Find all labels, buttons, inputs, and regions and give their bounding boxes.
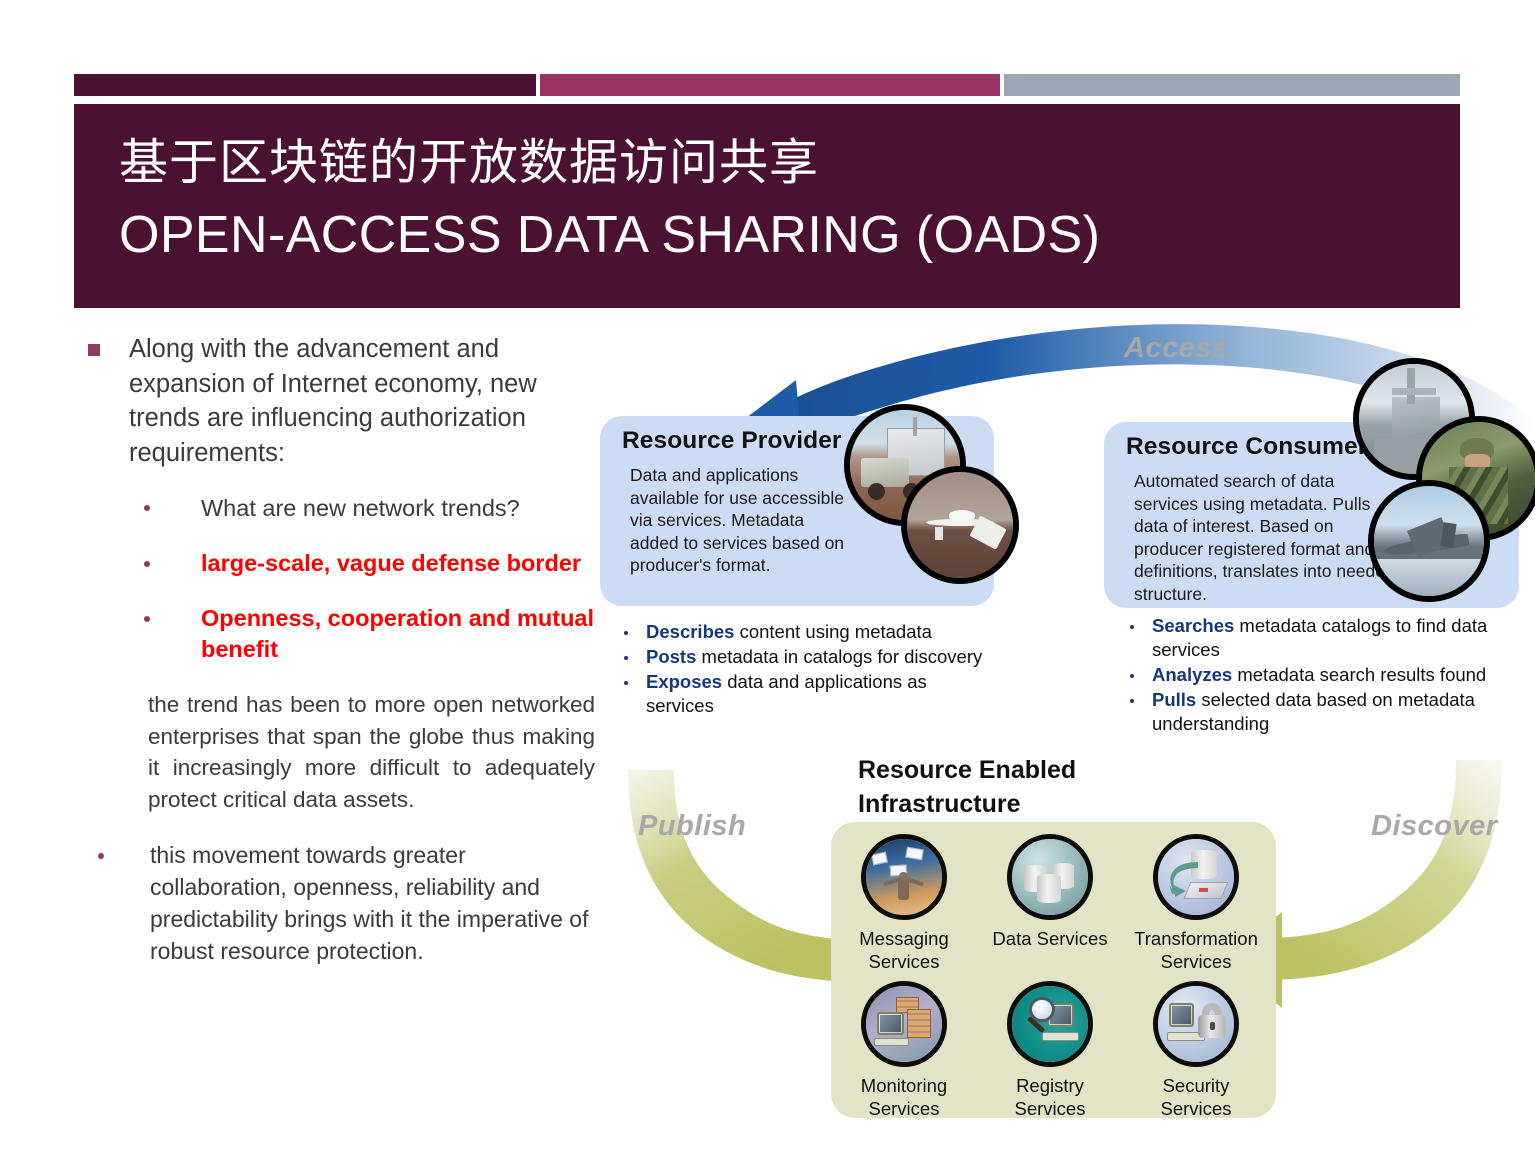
service-messaging[interactable]: Messaging Services <box>834 834 974 973</box>
action-rest: content using metadata <box>734 621 931 642</box>
data-services-icon <box>1007 834 1093 920</box>
discover-arrow-label: Discover <box>1371 810 1498 843</box>
monitoring-services-icon <box>861 981 947 1067</box>
round-bullet-icon <box>1130 674 1134 678</box>
action-verb: Pulls <box>1152 689 1196 710</box>
action-verb: Describes <box>646 621 734 642</box>
fighter-jet-photo <box>1368 480 1490 602</box>
round-bullet-icon <box>624 656 628 660</box>
service-label: Security Services <box>1126 1074 1266 1120</box>
service-label: Messaging Services <box>834 927 974 973</box>
consumer-actions-list: Searches metadata catalogs to find data … <box>1130 614 1500 737</box>
list-item: Searches metadata catalogs to find data … <box>1130 614 1500 662</box>
sub-bullet-1: large-scale, vague defense border <box>88 548 608 579</box>
resource-enabled-infrastructure-title: Resource Enabled Infrastructure <box>858 753 1158 821</box>
closing-bullet-text: this movement towards greater collaborat… <box>150 839 596 967</box>
uav-drone-photo <box>901 466 1019 584</box>
security-services-icon <box>1153 981 1239 1067</box>
service-monitoring[interactable]: Monitoring Services <box>834 981 974 1120</box>
service-label: Transformation Services <box>1126 927 1266 973</box>
square-bullet-icon <box>88 344 100 356</box>
page-title-chinese: 基于区块链的开放数据访问共享 <box>119 134 819 191</box>
closing-bullet: this movement towards greater collaborat… <box>88 839 608 967</box>
round-bullet-icon <box>624 631 628 635</box>
action-rest: metadata search results found <box>1232 664 1486 685</box>
bullet-level1: Along with the advancement and expansion… <box>88 332 608 470</box>
list-item: Posts metadata in catalogs for discovery <box>624 645 984 669</box>
bullet-level1-text: Along with the advancement and expansion… <box>129 332 608 470</box>
round-bullet-icon <box>1130 699 1134 703</box>
service-label: Registry Services <box>980 1074 1120 1120</box>
list-item: Analyzes metadata search results found <box>1130 663 1500 687</box>
action-rest: metadata in catalogs for discovery <box>696 646 982 667</box>
slide-canvas: 基于区块链的开放数据访问共享 OPEN-ACCESS DATA SHARING … <box>0 0 1535 1152</box>
sub-bullet-2-text: Openness, cooperation and mutual benefit <box>201 603 608 665</box>
registry-services-icon <box>1007 981 1093 1067</box>
oads-diagram: Access Publish Discover Resource Provide… <box>596 318 1535 1152</box>
header-bar-magenta <box>540 74 1000 96</box>
publish-arrow-label: Publish <box>638 810 746 843</box>
sub-bullet-2: Openness, cooperation and mutual benefit <box>88 603 608 665</box>
messaging-services-icon <box>861 834 947 920</box>
action-verb: Posts <box>646 646 696 667</box>
service-security[interactable]: Security Services <box>1126 981 1266 1120</box>
round-bullet-icon <box>98 853 104 859</box>
list-item: Describes content using metadata <box>624 620 984 644</box>
services-grid: Messaging Services Data Services <box>831 834 1276 1128</box>
service-label: Monitoring Services <box>834 1074 974 1120</box>
sub-bullet-0: What are new network trends? <box>88 492 608 524</box>
access-arrow-label: Access <box>1124 332 1229 365</box>
resource-provider-title: Resource Provider <box>622 427 842 455</box>
service-label: Data Services <box>992 927 1107 950</box>
resource-provider-body: Data and applications available for use … <box>630 464 855 577</box>
resource-consumer-body: Automated search of data services using … <box>1134 470 1396 605</box>
header-bar-gray <box>1004 74 1460 96</box>
action-verb: Analyzes <box>1152 664 1232 685</box>
page-title-english: OPEN-ACCESS DATA SHARING (OADS) <box>119 204 1100 266</box>
action-rest: selected data based on metadata understa… <box>1152 689 1475 734</box>
service-data[interactable]: Data Services <box>980 834 1120 973</box>
trend-paragraph: the trend has been to more open networke… <box>148 689 595 815</box>
provider-actions-list: Describes content using metadata Posts m… <box>624 620 984 719</box>
round-bullet-icon <box>1130 625 1134 629</box>
list-item: Exposes data and applications as service… <box>624 670 984 718</box>
list-item: Pulls selected data based on metadata un… <box>1130 688 1500 736</box>
header-bar-maroon <box>74 74 536 96</box>
resource-enabled-infrastructure-box: Messaging Services Data Services <box>831 822 1276 1118</box>
sub-bullet-1-text: large-scale, vague defense border <box>201 548 608 579</box>
resource-consumer-title: Resource Consumer <box>1126 433 1367 461</box>
service-registry[interactable]: Registry Services <box>980 981 1120 1120</box>
action-verb: Exposes <box>646 671 722 692</box>
round-bullet-icon <box>144 505 150 511</box>
round-bullet-icon <box>624 681 628 685</box>
action-verb: Searches <box>1152 615 1234 636</box>
service-transformation[interactable]: Transformation Services <box>1126 834 1266 973</box>
sub-bullet-0-text: What are new network trends? <box>201 492 608 524</box>
round-bullet-icon <box>144 616 150 622</box>
round-bullet-icon <box>144 561 150 567</box>
left-text-column: Along with the advancement and expansion… <box>88 332 608 967</box>
transformation-services-icon <box>1153 834 1239 920</box>
slide-title-block: 基于区块链的开放数据访问共享 OPEN-ACCESS DATA SHARING … <box>74 104 1460 308</box>
